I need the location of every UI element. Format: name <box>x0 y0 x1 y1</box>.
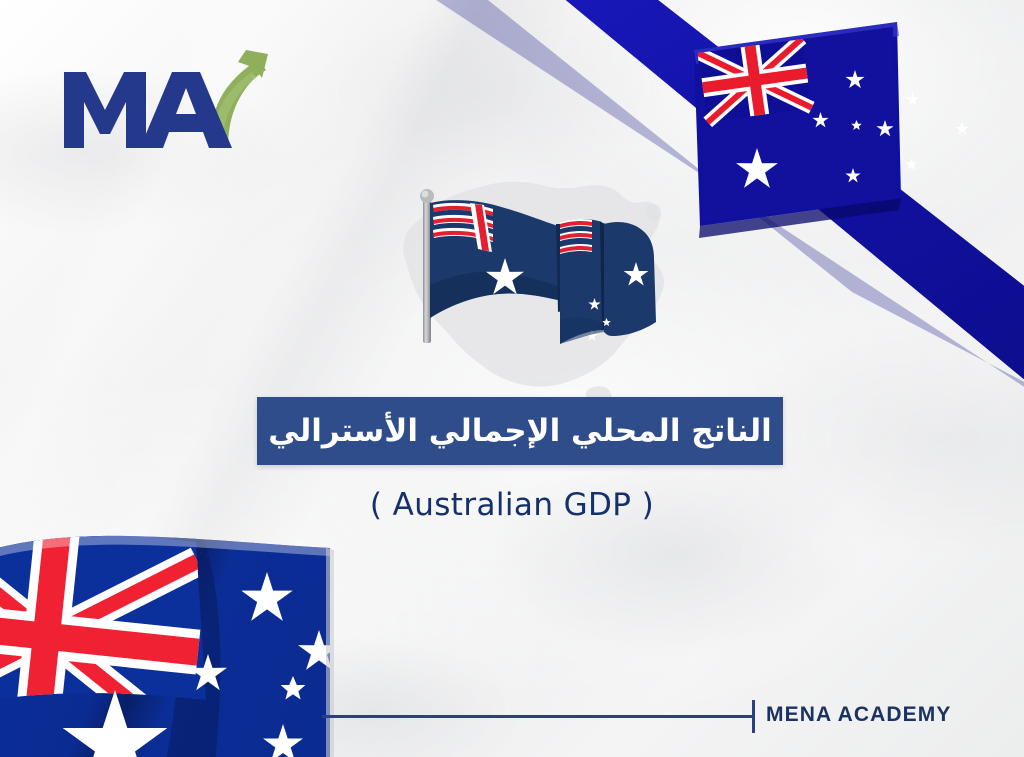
title-banner: الناتج المحلي الإجمالي الأسترالي <box>257 397 783 465</box>
title-arabic: الناتج المحلي الإجمالي الأسترالي <box>268 416 772 447</box>
brand-logo <box>60 48 270 152</box>
footer-tick-mark <box>752 700 755 733</box>
logo-letter-MA <box>64 72 232 148</box>
subtitle-english: ( Australian GDP ) <box>0 487 1024 523</box>
footer-brand-label: MENA ACADEMY <box>766 703 951 727</box>
poster-canvas: الناتج المحلي الإجمالي الأسترالي ( Austr… <box>0 0 1024 757</box>
bottom-left-flag-group <box>0 511 360 757</box>
footer-divider-line <box>322 715 754 718</box>
